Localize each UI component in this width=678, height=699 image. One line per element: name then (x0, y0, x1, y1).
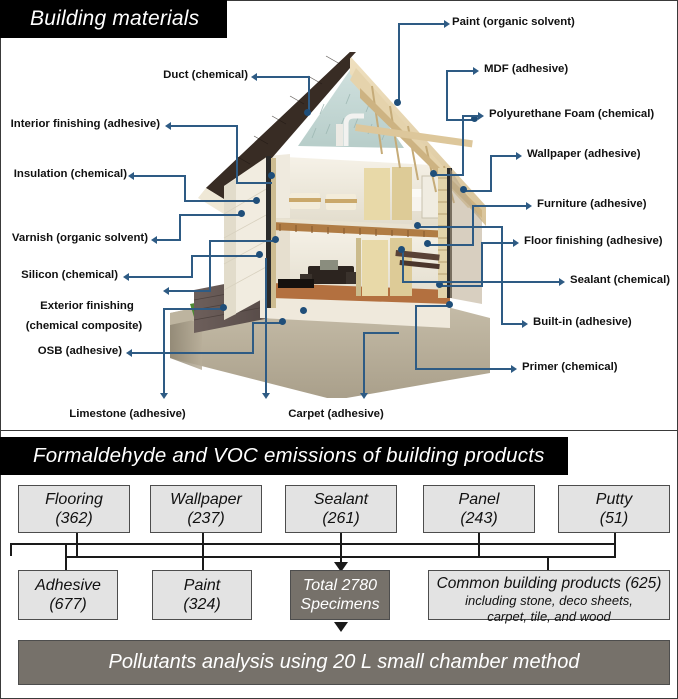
carpet-dot (300, 307, 307, 314)
node-paint-count: (324) (183, 595, 220, 614)
polyurethane-dot (430, 170, 437, 177)
node-common-line1: Common building products (625) (437, 574, 662, 593)
paint-leader-v (398, 23, 400, 103)
interior-finishing-leader-h (171, 125, 238, 127)
primer-dot (446, 301, 453, 308)
varnish-leader-h (157, 239, 181, 241)
node-paint[interactable]: Paint (324) (152, 570, 252, 620)
paint-leader-h (398, 23, 446, 25)
connector-bus-left-edge (10, 543, 12, 556)
osb-leader-h2 (252, 322, 282, 324)
limestone-dot (220, 304, 227, 311)
callout-exterior-finishing-line2: (chemical composite) (8, 320, 160, 333)
figure-root: Building materials (0, 0, 678, 699)
silicon-leader-h (129, 276, 193, 278)
mdf-leader-h (446, 70, 475, 72)
exterior-finishing-leader-v (209, 240, 211, 290)
limestone-arrow-icon (160, 393, 168, 399)
exterior-finishing-dot (272, 236, 279, 243)
node-flooring[interactable]: Flooring (362) (18, 485, 130, 533)
sealant-dot (398, 246, 405, 253)
wallpaper-leader-h2 (464, 190, 492, 192)
sealant-leader-v (402, 250, 404, 282)
node-putty-name: Putty (596, 490, 632, 509)
node-panel[interactable]: Panel (243) (423, 485, 535, 533)
duct-dot (304, 109, 311, 116)
callout-mdf: MDF (adhesive) (484, 63, 568, 76)
node-wallpaper-name: Wallpaper (170, 490, 242, 509)
final-analysis-bar[interactable]: Pollutants analysis using 20 L small cha… (18, 640, 670, 685)
node-wallpaper-count: (237) (187, 509, 224, 528)
connector-paint-down (202, 543, 204, 570)
callout-limestone: Limestone (adhesive) (50, 408, 205, 421)
house-illustration-svg (150, 28, 510, 398)
mdf-leader-v (446, 70, 448, 120)
connector-bus-bottom (65, 556, 616, 558)
callout-varnish: Varnish (organic solvent) (0, 232, 148, 245)
node-putty-count: (51) (600, 509, 628, 528)
wallpaper-dot (460, 186, 467, 193)
built-in-leader-h (501, 323, 524, 325)
node-sealant[interactable]: Sealant (261) (285, 485, 397, 533)
node-common-line3: carpet, tile, and wood (487, 609, 611, 625)
node-adhesive-count: (677) (49, 595, 86, 614)
node-panel-name: Panel (459, 490, 500, 509)
callout-paint: Paint (organic solvent) (452, 16, 575, 29)
furniture-leader-v (472, 205, 474, 245)
floor-finishing-leader-v (481, 242, 483, 286)
exterior-finishing-leader-h (169, 290, 211, 292)
floor-finishing-leader-h2 (440, 285, 483, 287)
insulation-leader-v (184, 175, 186, 201)
exterior-finishing-leader-h2 (209, 240, 275, 242)
furniture-leader-h (472, 205, 528, 207)
carpet-leader-v (265, 258, 267, 394)
callout-floor-finishing: Floor finishing (adhesive) (524, 235, 663, 248)
node-adhesive[interactable]: Adhesive (677) (18, 570, 118, 620)
node-adhesive-name: Adhesive (35, 576, 101, 595)
connector-common-down (547, 556, 549, 570)
callout-osb: OSB (adhesive) (0, 345, 122, 358)
duct-leader-h (257, 76, 310, 78)
interior-finishing-leader-h2 (236, 182, 272, 184)
callout-exterior-finishing-line1: Exterior finishing (14, 300, 160, 313)
insulation-leader-h2 (184, 200, 256, 202)
callout-furniture: Furniture (adhesive) (537, 198, 647, 211)
callout-duct: Duct (chemical) (0, 69, 248, 82)
floor-finishing-leader-h (481, 242, 515, 244)
node-flooring-count: (362) (55, 509, 92, 528)
furniture-dot (424, 240, 431, 247)
node-common-building-products[interactable]: Common building products (625) including… (428, 570, 670, 620)
connector-final-arrow-icon (334, 622, 348, 632)
node-panel-count: (243) (460, 509, 497, 528)
callout-polyurethane-foam: Polyurethane Foam (chemical) (489, 108, 654, 121)
built-in-dot (414, 222, 421, 229)
node-flooring-name: Flooring (45, 490, 103, 509)
paint-dot (394, 99, 401, 106)
polyurethane-leader-h2 (434, 174, 464, 176)
callout-sealant: Sealant (chemical) (570, 274, 670, 287)
node-wallpaper[interactable]: Wallpaper (237) (150, 485, 262, 533)
house-cutaway-illustration (150, 28, 510, 398)
osb-dot (279, 318, 286, 325)
callout-carpet: Carpet (adhesive) (250, 408, 422, 421)
callout-interior-finishing: Interior finishing (adhesive) (0, 118, 160, 131)
connector-bus-top (10, 543, 616, 545)
carpet-arrow2-icon (360, 393, 368, 399)
varnish-leader-v (179, 214, 181, 239)
osb-leader-h (132, 352, 254, 354)
limestone-leader-h (163, 308, 223, 310)
connector-adhesive-down (65, 556, 67, 570)
primer-leader-h2 (415, 305, 449, 307)
node-total-line1: Total 2780 (303, 576, 377, 595)
insulation-leader-h (134, 175, 186, 177)
node-common-line2: including stone, deco sheets, (465, 593, 633, 609)
node-sealant-name: Sealant (314, 490, 368, 509)
carpet-leader-h (363, 332, 399, 334)
node-putty[interactable]: Putty (51) (558, 485, 670, 533)
varnish-leader-h2 (179, 214, 241, 216)
varnish-dot (238, 210, 245, 217)
duct-leader-v (308, 76, 310, 113)
node-sealant-count: (261) (322, 509, 359, 528)
bottom-panel-title: Formaldehyde and VOC emissions of buildi… (0, 437, 568, 475)
connector-sealant-down (340, 532, 342, 565)
node-total-specimens[interactable]: Total 2780 Specimens (290, 570, 390, 620)
callout-silicon: Silicon (chemical) (0, 269, 118, 282)
node-total-line2: Specimens (300, 595, 379, 614)
node-paint-name: Paint (184, 576, 220, 595)
carpet-leader-v2 (363, 332, 365, 394)
connector-bus-left-drop (65, 543, 67, 557)
wallpaper-leader-h (490, 155, 518, 157)
osb-leader-v (252, 322, 254, 352)
callout-primer: Primer (chemical) (522, 361, 618, 374)
sealant-leader-h (402, 281, 561, 283)
callout-wallpaper: Wallpaper (adhesive) (527, 148, 641, 161)
silicon-leader-h2 (191, 255, 259, 257)
interior-finishing-dot (268, 172, 275, 179)
polyurethane-leader-h (462, 115, 480, 117)
callout-insulation: Insulation (chemical) (0, 168, 127, 181)
callout-built-in: Built-in (adhesive) (533, 316, 632, 329)
primer-leader-h (415, 368, 513, 370)
mdf-leader-h2 (446, 119, 474, 121)
primer-leader-v (415, 305, 417, 369)
built-in-leader-v (501, 226, 503, 324)
built-in-leader-h2 (418, 226, 503, 228)
carpet-arrow-icon (262, 393, 270, 399)
polyurethane-leader-v (462, 115, 464, 175)
furniture-leader-h2 (428, 244, 474, 246)
interior-finishing-leader-v (236, 125, 238, 183)
insulation-dot (253, 197, 260, 204)
limestone-leader-v (163, 308, 165, 394)
silicon-dot (256, 251, 263, 258)
silicon-leader-v (191, 255, 193, 276)
wallpaper-leader-v (490, 155, 492, 191)
